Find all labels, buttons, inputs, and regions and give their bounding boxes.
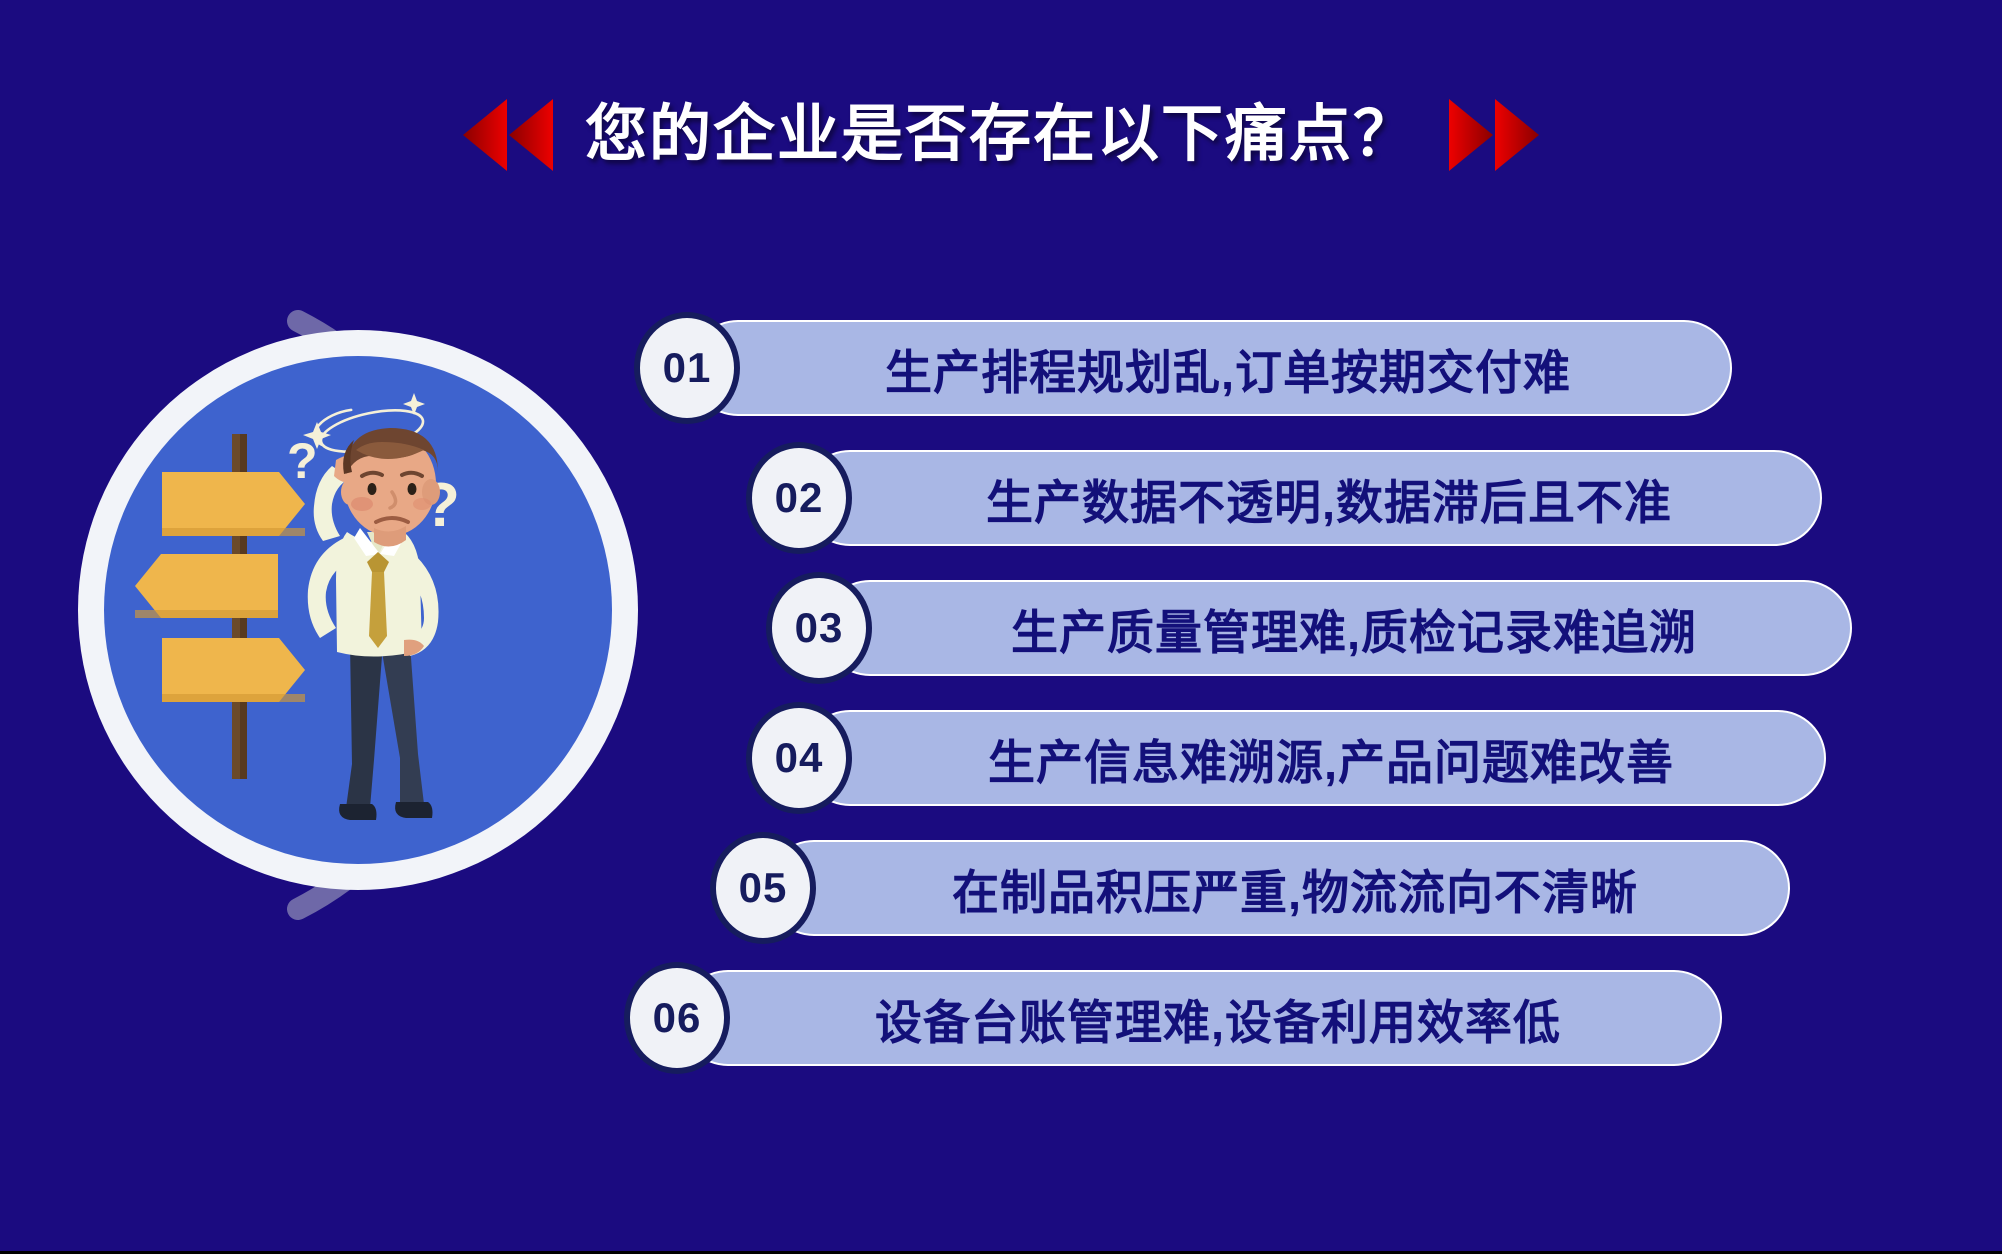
pain-point-bar[interactable]: 在制品积压严重,物流流向不清晰 (766, 840, 1790, 936)
pain-point-text: 生产信息难溯源,产品问题难改善 (924, 724, 1704, 793)
double-right-arrow-icon (1443, 99, 1539, 171)
pain-point-number: 06 (653, 994, 702, 1042)
list-item[interactable]: 生产数据不透明,数据滞后且不准 02 (0, 450, 2002, 546)
pain-point-number: 04 (775, 734, 824, 782)
title-row: 您的企业是否存在以下痛点？ (0, 92, 2002, 178)
pain-point-badge: 04 (746, 702, 852, 814)
pain-point-bar[interactable]: 生产数据不透明,数据滞后且不准 (802, 450, 1822, 546)
page-title: 您的企业是否存在以下痛点？ (585, 104, 1417, 166)
pain-point-number: 03 (795, 604, 844, 652)
pain-point-list: 生产排程规划乱,订单按期交付难 01 生产数据不透明,数据滞后且不准 02 生产… (0, 320, 2002, 1100)
pain-point-badge: 02 (746, 442, 852, 554)
pain-point-badge: 06 (624, 962, 730, 1074)
list-item[interactable]: 设备台账管理难,设备利用效率低 06 (0, 970, 2002, 1066)
pain-point-number: 01 (663, 344, 712, 392)
list-item[interactable]: 生产排程规划乱,订单按期交付难 01 (0, 320, 2002, 416)
pain-point-bar[interactable]: 生产信息难溯源,产品问题难改善 (802, 710, 1826, 806)
pain-point-text: 在制品积压严重,物流流向不清晰 (888, 854, 1668, 923)
pain-point-text: 生产质量管理难,质检记录难追溯 (947, 594, 1727, 663)
pain-point-text: 生产排程规划乱,订单按期交付难 (821, 334, 1601, 403)
pain-point-bar[interactable]: 生产质量管理难,质检记录难追溯 (822, 580, 1852, 676)
pain-point-number: 02 (775, 474, 824, 522)
pain-point-text: 设备台账管理难,设备利用效率低 (811, 984, 1591, 1053)
list-item[interactable]: 生产质量管理难,质检记录难追溯 03 (0, 580, 2002, 676)
pain-point-bar[interactable]: 设备台账管理难,设备利用效率低 (680, 970, 1722, 1066)
pain-point-text: 生产数据不透明,数据滞后且不准 (922, 464, 1702, 533)
list-item[interactable]: 生产信息难溯源,产品问题难改善 04 (0, 710, 2002, 806)
slide-root: 您的企业是否存在以下痛点？ (0, 0, 2002, 1254)
pain-point-number: 05 (739, 864, 788, 912)
double-left-arrow-icon (463, 99, 559, 171)
list-item[interactable]: 在制品积压严重,物流流向不清晰 05 (0, 840, 2002, 936)
pain-point-badge: 05 (710, 832, 816, 944)
pain-point-badge: 01 (634, 312, 740, 424)
pain-point-bar[interactable]: 生产排程规划乱,订单按期交付难 (690, 320, 1732, 416)
pain-point-badge: 03 (766, 572, 872, 684)
